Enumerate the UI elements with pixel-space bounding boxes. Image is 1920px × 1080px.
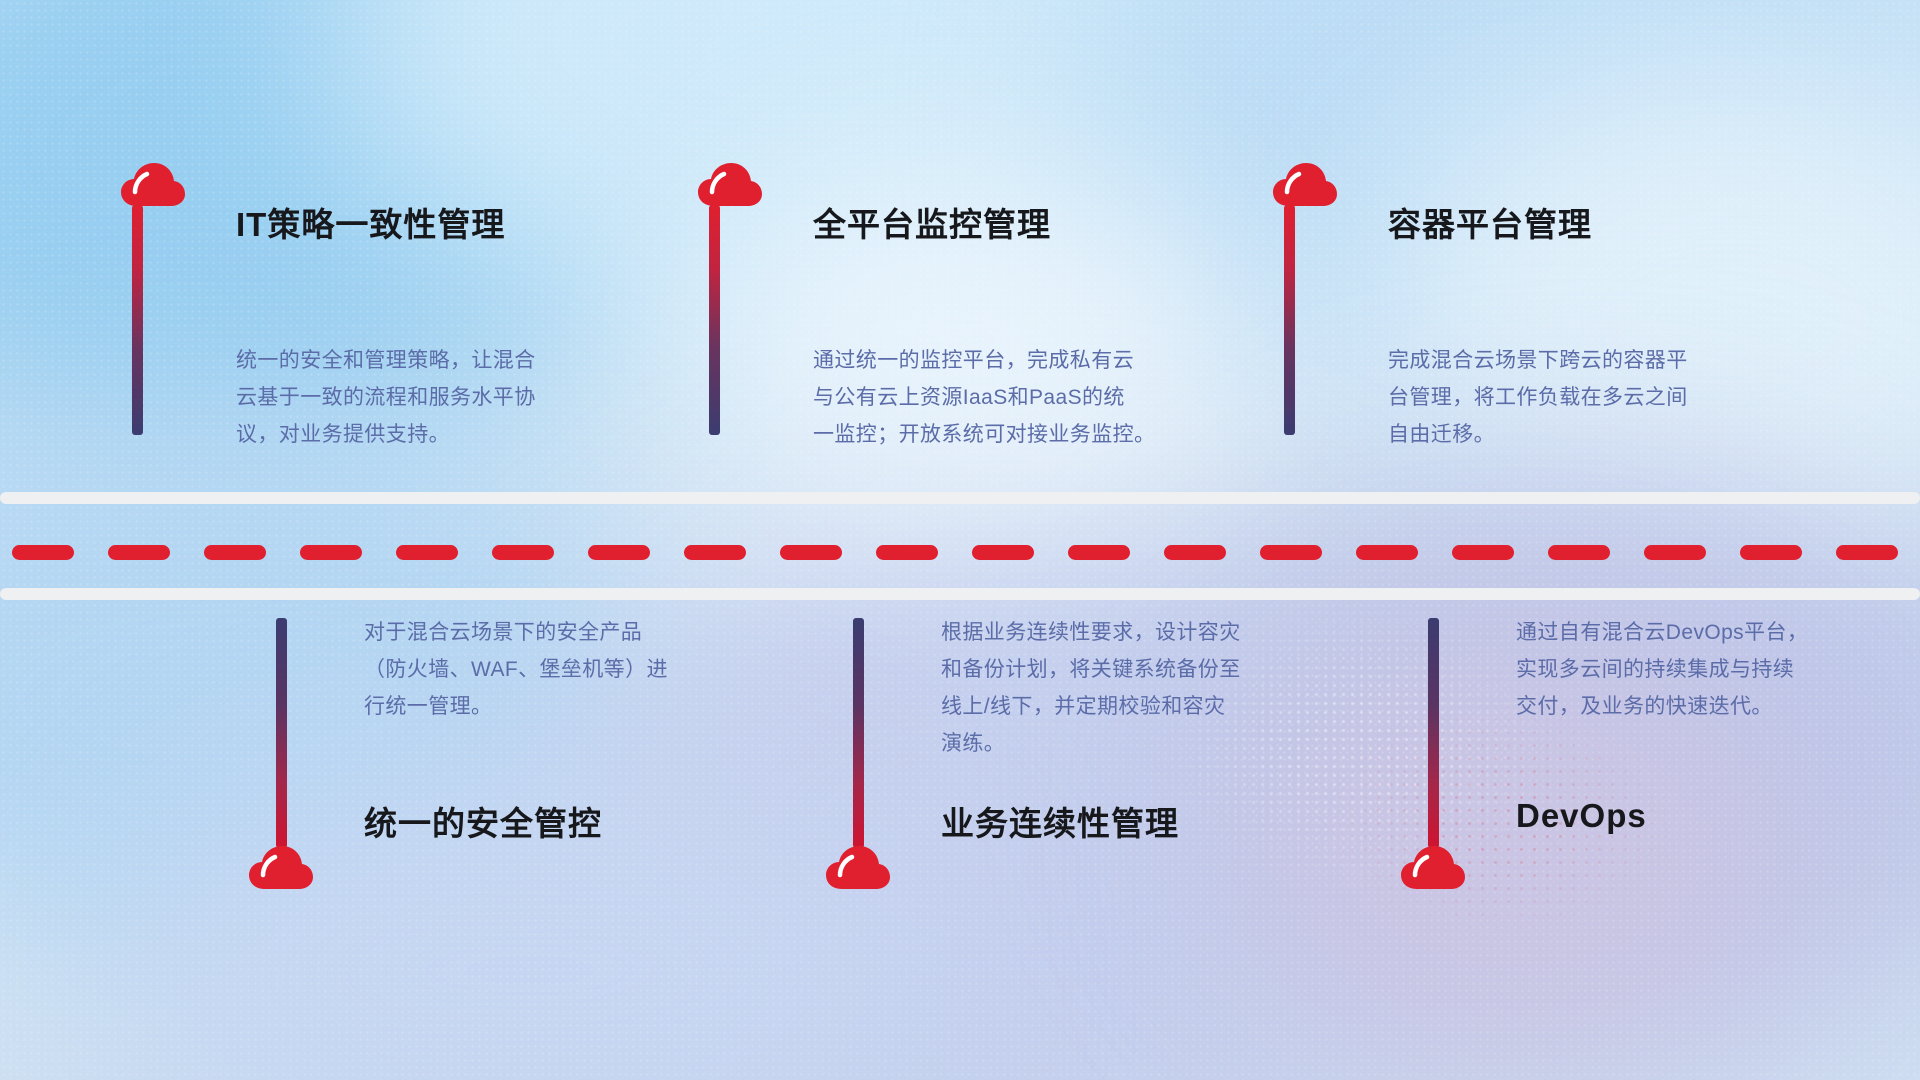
dash-segment	[1068, 545, 1130, 560]
capability-heading: IT策略一致性管理	[236, 198, 621, 246]
divider-band-top	[0, 492, 1920, 504]
capability-description: 通过自有混合云DevOps平台， 实现多云间的持续集成与持续 交付，及业务的快速…	[1516, 614, 1901, 725]
capability-item-top-3[interactable]: 容器平台管理 完成混合云场景下跨云的容器平 台管理，将工作负载在多云之间 自由迁…	[1240, 162, 1773, 453]
capability-heading: DevOps	[1516, 797, 1901, 835]
dash-segment	[492, 545, 554, 560]
capability-item-top-1[interactable]: IT策略一致性管理 统一的安全和管理策略，让混合 云基于一致的流程和服务水平协 …	[88, 162, 621, 453]
dash-segment	[1356, 545, 1418, 560]
capability-item-top-2[interactable]: 全平台监控管理 通过统一的监控平台，完成私有云 与公有云上资源IaaS和PaaS…	[665, 162, 1213, 453]
divider-band-bottom	[0, 588, 1920, 600]
divider-dashed-line	[0, 545, 1920, 560]
capability-item-bottom-1[interactable]: 对于混合云场景下的安全产品 （防火墙、WAF、堡垒机等）进 行统一管理。 统一的…	[248, 618, 749, 891]
timeline-stem	[853, 618, 864, 848]
cloud-icon	[825, 845, 891, 891]
timeline-stem	[132, 205, 143, 435]
cloud-icon	[1272, 162, 1338, 208]
infographic-canvas: IT策略一致性管理 统一的安全和管理策略，让混合 云基于一致的流程和服务水平协 …	[0, 0, 1920, 1080]
dash-segment	[1644, 545, 1706, 560]
capability-heading: 统一的安全管控	[364, 797, 749, 845]
dash-segment	[396, 545, 458, 560]
dash-segment	[1452, 545, 1514, 560]
dash-segment	[876, 545, 938, 560]
cloud-icon	[1400, 845, 1466, 891]
dash-segment	[12, 545, 74, 560]
dash-segment	[108, 545, 170, 560]
capability-description: 统一的安全和管理策略，让混合 云基于一致的流程和服务水平协 议，对业务提供支持。	[236, 342, 621, 453]
dash-segment	[1164, 545, 1226, 560]
cloud-icon	[248, 845, 314, 891]
timeline-stem	[709, 205, 720, 435]
capability-heading: 容器平台管理	[1388, 198, 1773, 246]
dash-segment	[1548, 545, 1610, 560]
timeline-stem	[1428, 618, 1439, 848]
capability-item-bottom-2[interactable]: 根据业务连续性要求，设计容灾 和备份计划，将关键系统备份至 线上/线下，并定期校…	[825, 618, 1326, 891]
dash-segment	[1740, 545, 1802, 560]
dash-segment	[300, 545, 362, 560]
capability-item-bottom-3[interactable]: 通过自有混合云DevOps平台， 实现多云间的持续集成与持续 交付，及业务的快速…	[1400, 618, 1901, 891]
dash-segment	[972, 545, 1034, 560]
capability-description: 根据业务连续性要求，设计容灾 和备份计划，将关键系统备份至 线上/线下，并定期校…	[941, 614, 1326, 762]
dash-segment	[684, 545, 746, 560]
cloud-icon	[120, 162, 186, 208]
dash-segment	[588, 545, 650, 560]
capability-heading: 业务连续性管理	[941, 797, 1326, 845]
capability-description: 通过统一的监控平台，完成私有云 与公有云上资源IaaS和PaaS的统 一监控；开…	[813, 342, 1213, 453]
cloud-icon	[697, 162, 763, 208]
timeline-stem	[1284, 205, 1295, 435]
dash-segment	[1836, 545, 1898, 560]
timeline-stem	[276, 618, 287, 848]
capability-heading: 全平台监控管理	[813, 198, 1213, 246]
dash-segment	[1260, 545, 1322, 560]
dash-segment	[780, 545, 842, 560]
capability-description: 对于混合云场景下的安全产品 （防火墙、WAF、堡垒机等）进 行统一管理。	[364, 614, 749, 725]
capability-description: 完成混合云场景下跨云的容器平 台管理，将工作负载在多云之间 自由迁移。	[1388, 342, 1773, 453]
dash-segment	[204, 545, 266, 560]
